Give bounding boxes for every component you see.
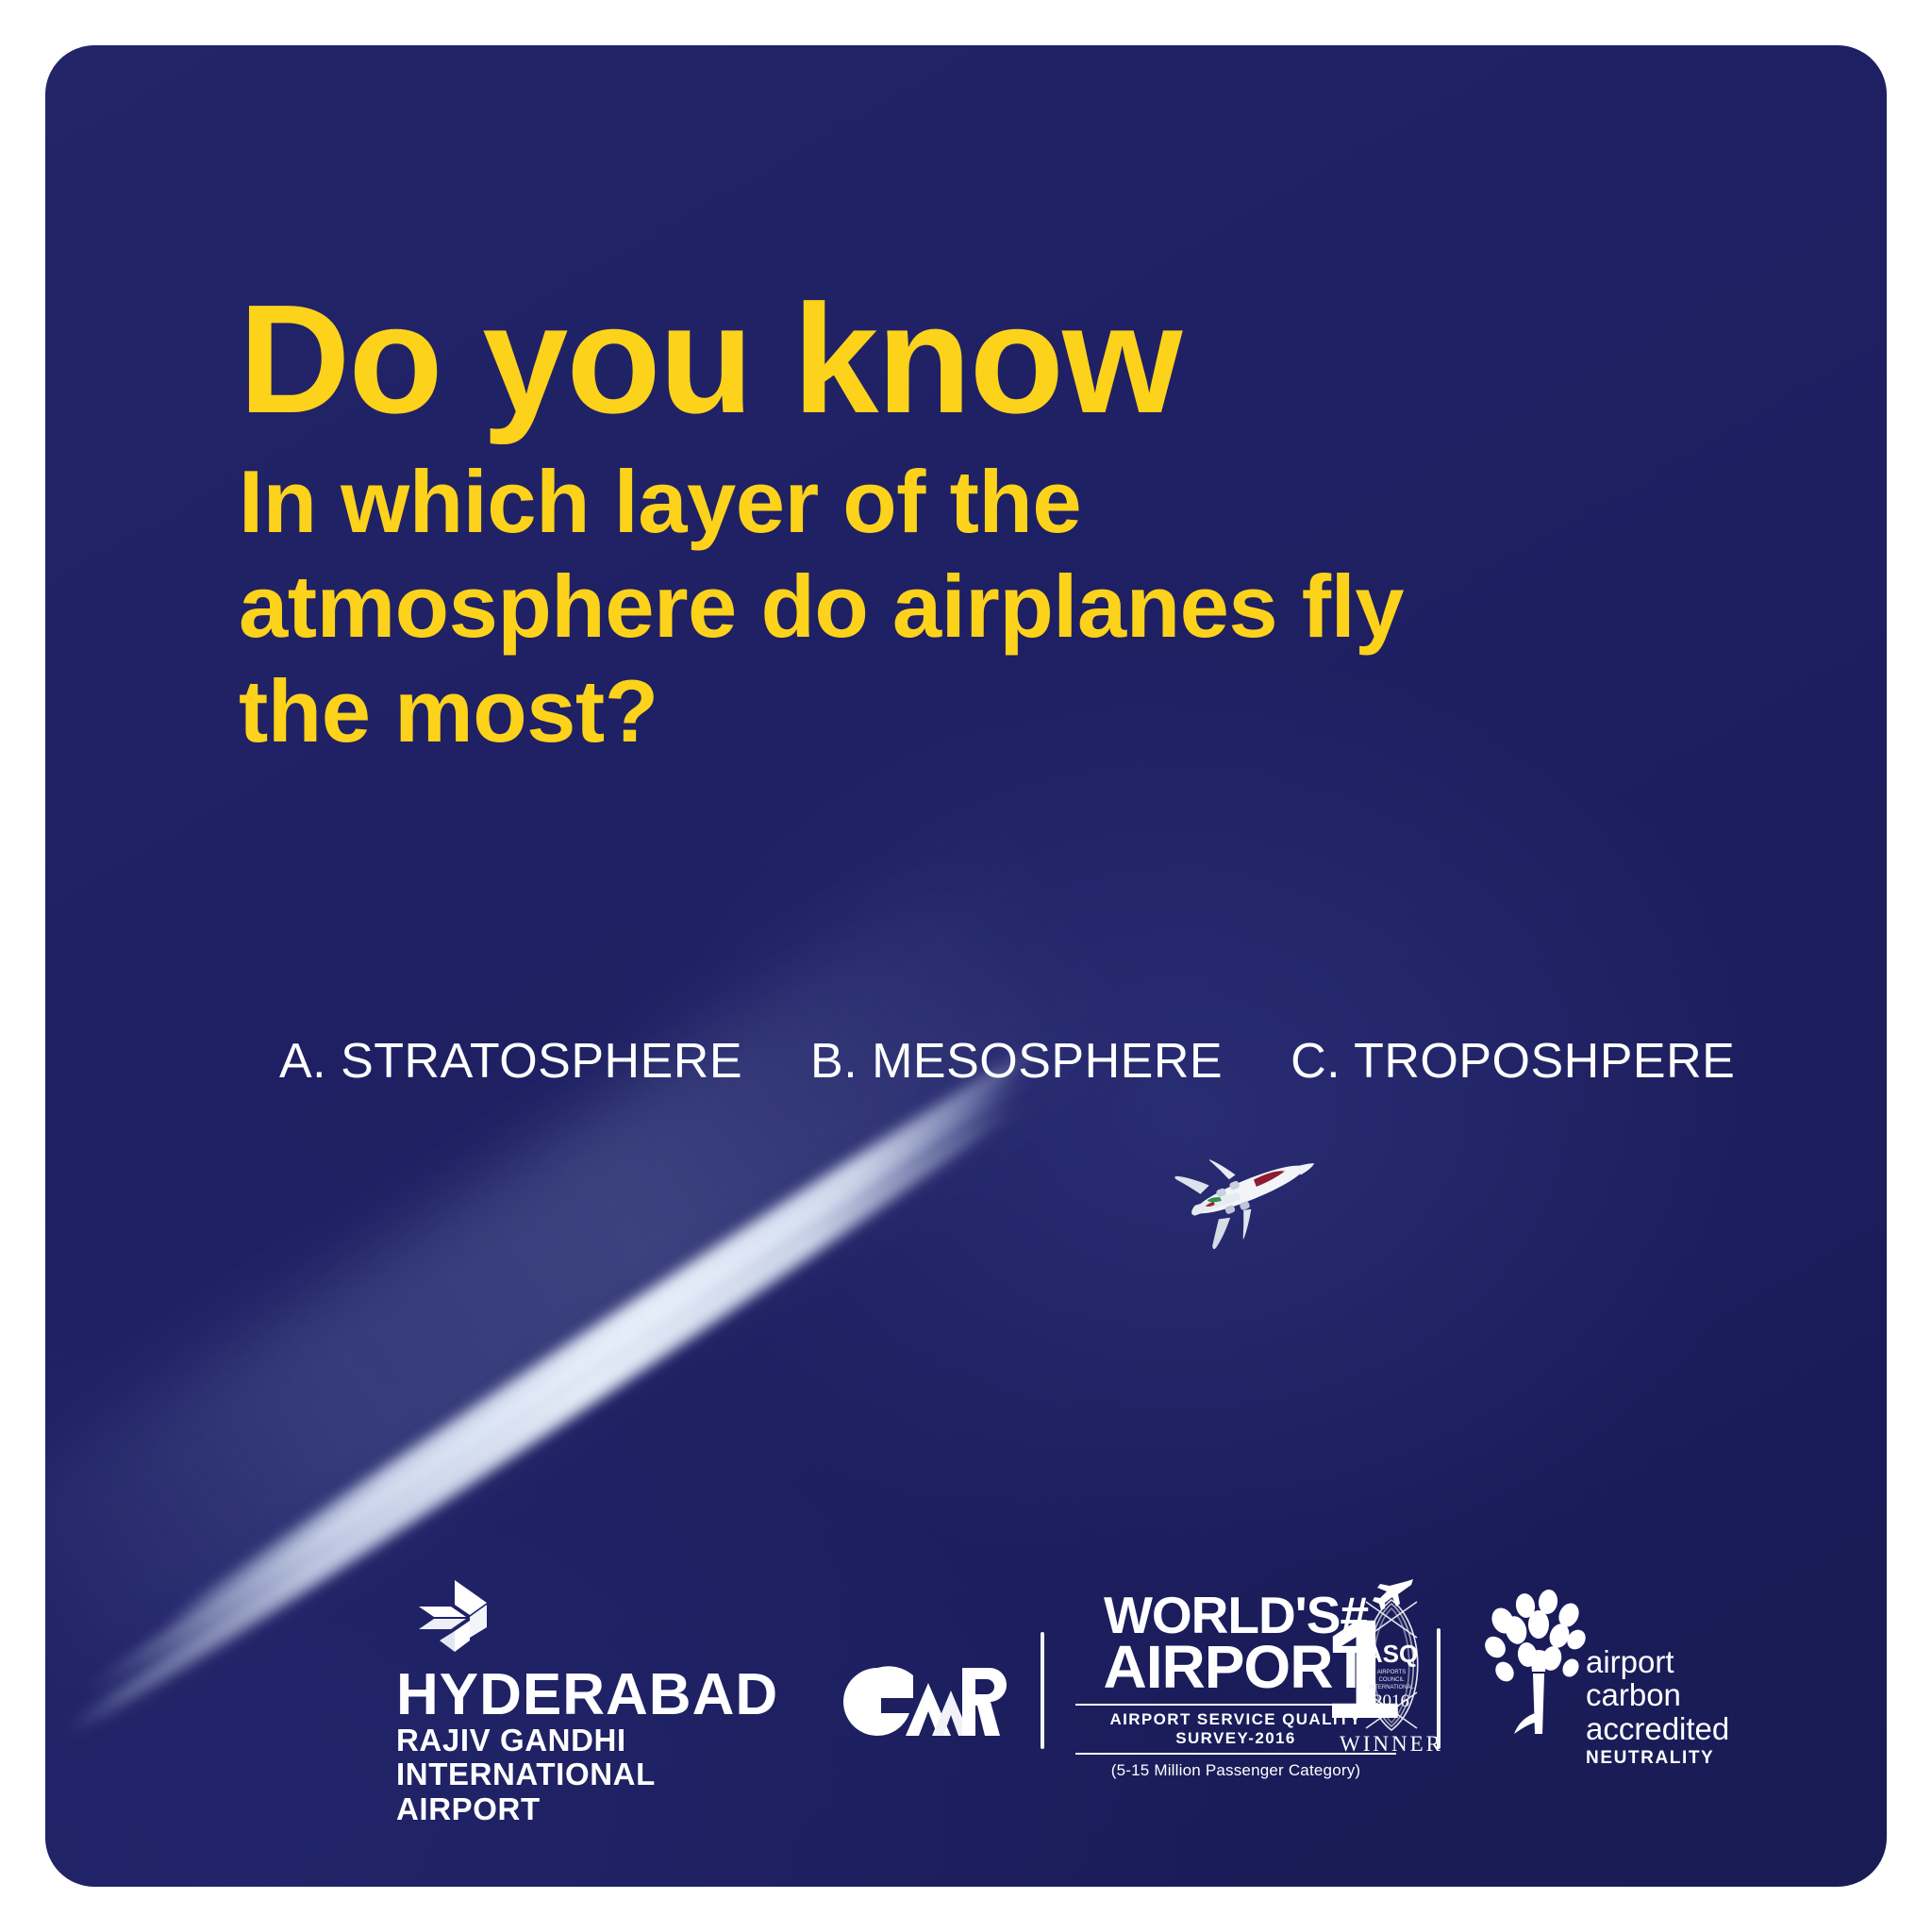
page-title: Do you know <box>239 286 1795 433</box>
logo-divider-1 <box>1041 1632 1044 1749</box>
option-b[interactable]: B. MESOSPHERE <box>810 1033 1223 1090</box>
passenger-category: (5-15 Million Passenger Category) <box>1075 1761 1396 1780</box>
aca-line1: airport <box>1586 1645 1729 1678</box>
airplane-photo <box>1154 1130 1342 1262</box>
hyderabad-line3: INTERNATIONAL AIRPORT <box>396 1757 745 1827</box>
svg-text:COUNCIL: COUNCIL <box>1378 1677 1405 1683</box>
quiz-question: In which layer of the atmosphere do airp… <box>239 450 1465 764</box>
svg-text:AIRPORTS: AIRPORTS <box>1377 1670 1407 1675</box>
tree-tower-icon <box>1484 1581 1588 1751</box>
aca-line2: carbon <box>1586 1678 1729 1711</box>
answer-options: A. STRATOSPHERE B. MESOSPHERE C. TROPOSH… <box>279 1033 1735 1090</box>
poster-canvas: Do you know In which layer of the atmosp… <box>0 0 1932 1932</box>
svg-text:ASQ: ASQ <box>1365 1640 1418 1668</box>
asq-winner-label: WINNER <box>1340 1732 1443 1757</box>
footer-logo-strip: HYDERABAD RAJIV GANDHI INTERNATIONAL AIR… <box>45 1574 1887 1819</box>
option-a[interactable]: A. STRATOSPHERE <box>279 1033 742 1090</box>
worlds-text: WORLD'S <box>1104 1586 1341 1644</box>
copy-block: Do you know In which layer of the atmosp… <box>239 286 1795 764</box>
asq-seal-icon: ASQ AIRPORTS COUNCIL INTERNATIONAL 2016 <box>1343 1594 1440 1736</box>
asq-winner-seal[interactable]: ASQ AIRPORTS COUNCIL INTERNATIONAL 2016 … <box>1340 1594 1443 1757</box>
logo-divider-2 <box>1437 1628 1441 1749</box>
option-c[interactable]: C. TROPOSHPERE <box>1291 1033 1735 1090</box>
hyderabad-line2: RAJIV GANDHI <box>396 1724 745 1758</box>
aca-level: NEUTRALITY <box>1586 1749 1729 1768</box>
svg-text:INTERNATIONAL: INTERNATIONAL <box>1369 1685 1414 1690</box>
gmr-logo[interactable] <box>838 1657 1008 1747</box>
poster-card: Do you know In which layer of the atmosp… <box>45 45 1887 1887</box>
svg-text:2016: 2016 <box>1374 1691 1409 1711</box>
hyderabad-line1: HYDERABAD <box>396 1667 745 1724</box>
aca-wordmark: airport carbon accredited NEUTRALITY <box>1586 1645 1729 1768</box>
aca-line3: accredited <box>1586 1712 1729 1745</box>
hyderabad-airport-logo[interactable]: HYDERABAD RAJIV GANDHI INTERNATIONAL AIR… <box>396 1578 745 1827</box>
chevron-arrow-mark-icon <box>413 1578 500 1659</box>
